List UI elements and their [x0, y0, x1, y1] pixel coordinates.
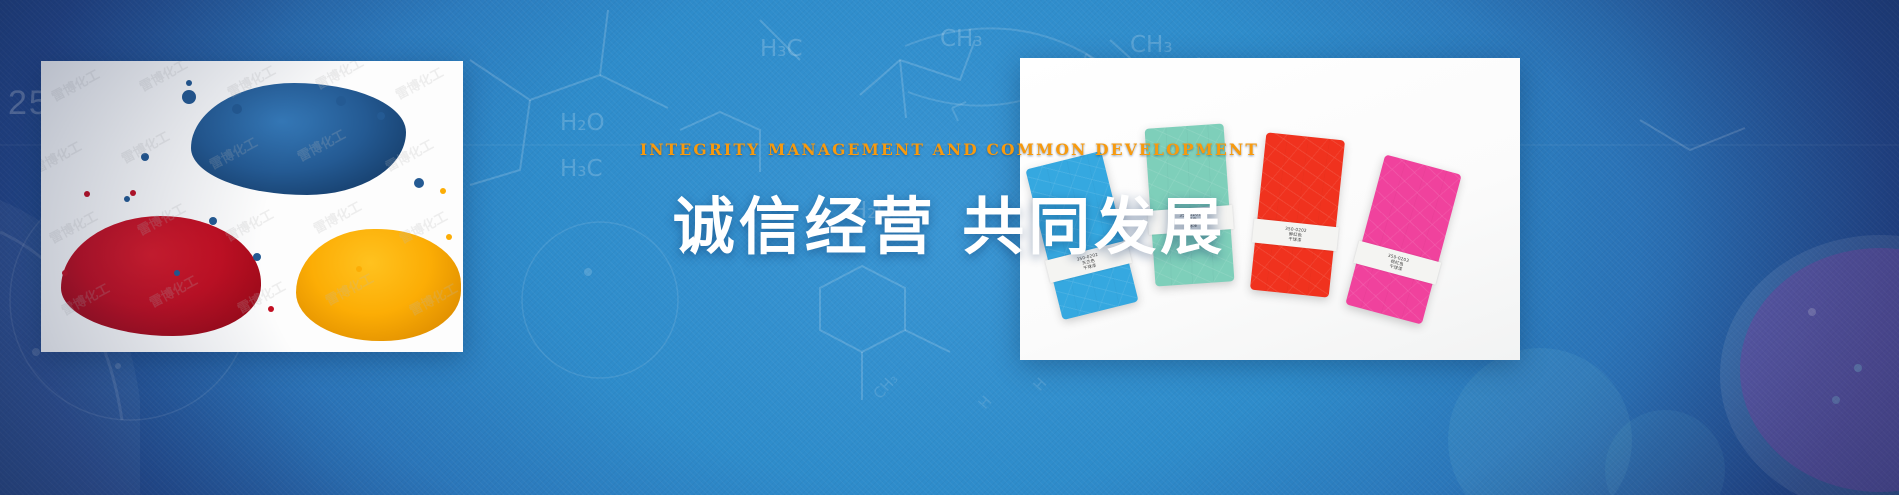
svg-text:H: H: [975, 392, 996, 412]
svg-text:H₂O: H₂O: [560, 110, 605, 136]
banner-tagline: INTEGRITY MANAGEMENT AND COMMON DEVELOPM…: [0, 140, 1899, 159]
bottom-left-bubbles: [1448, 348, 1725, 495]
banner-headline: 诚信经营 共同发展: [0, 176, 1899, 266]
svg-text:CH₃: CH₃: [1130, 32, 1173, 58]
svg-text:CH₃: CH₃: [870, 370, 902, 403]
svg-text:H: H: [1030, 374, 1051, 394]
petri-dish-decor: [1720, 235, 1899, 495]
svg-text:CH₃: CH₃: [940, 26, 983, 52]
banner-text-block: INTEGRITY MANAGEMENT AND COMMON DEVELOPM…: [0, 140, 1899, 266]
svg-text:H₃C: H₃C: [760, 36, 803, 62]
promotional-banner: H₃C H₃C CH₃ CH₃ H₂O H₂O H₃C H₂O H₃C CH₃ …: [0, 0, 1899, 495]
